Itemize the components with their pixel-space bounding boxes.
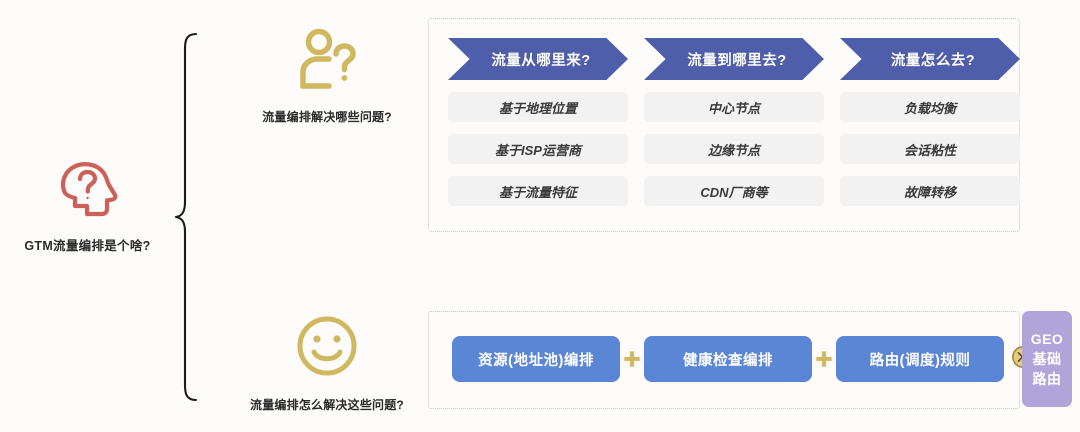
root-label: GTM流量编排是个啥? [0,235,175,254]
flow-box-resource[interactable]: 资源(地址池)编排 [452,336,620,382]
person-question-icon [289,24,365,100]
item-box[interactable]: 基于地理位置 [448,92,628,122]
branch-bottom: 流量编排怎么解决这些问题? [222,312,432,413]
brace [172,32,212,402]
root-node: GTM流量编排是个啥? [0,155,175,254]
item-box[interactable]: 故障转移 [840,176,1020,206]
solution-flow-row: 资源(地址池)编排 健康检查编排 路由(调度)规则 [452,336,1035,382]
branch-top: 流量编排解决哪些问题? [222,24,432,125]
diagram-canvas: GTM流量编排是个啥? 流量编排解决哪些问题? [0,0,1080,432]
geo-line-3: 路由 [1033,369,1062,389]
item-box[interactable]: 会话粘性 [840,134,1020,164]
smiley-face-icon [289,312,365,388]
chevron-header-3[interactable]: 流量怎么去? [840,38,1020,80]
question-column-2: 流量到哪里去? 中心节点 边缘节点 CDN厂商等 [644,38,824,206]
geo-base-routing-panel[interactable]: GEO 基础 路由 [1022,311,1072,407]
plus-icon [812,336,836,382]
branch-top-label: 流量编排解决哪些问题? [222,108,432,125]
item-box[interactable]: 基于ISP运营商 [448,134,628,164]
item-box[interactable]: CDN厂商等 [644,176,824,206]
flow-box-healthcheck[interactable]: 健康检查编排 [644,336,812,382]
item-box[interactable]: 负载均衡 [840,92,1020,122]
item-box[interactable]: 基于流量特征 [448,176,628,206]
geo-line-2: 基础 [1033,349,1062,369]
plus-icon [620,336,644,382]
question-column-3: 流量怎么去? 负载均衡 会话粘性 故障转移 [840,38,1020,206]
head-question-icon [53,155,123,225]
chevron-header-1[interactable]: 流量从哪里来? [448,38,628,80]
item-box[interactable]: 边缘节点 [644,134,824,164]
item-box[interactable]: 中心节点 [644,92,824,122]
branch-bottom-label: 流量编排怎么解决这些问题? [222,396,432,413]
chevron-header-2[interactable]: 流量到哪里去? [644,38,824,80]
geo-line-1: GEO [1031,329,1064,349]
question-column-1: 流量从哪里来? 基于地理位置 基于ISP运营商 基于流量特征 [448,38,628,206]
flow-box-routing[interactable]: 路由(调度)规则 [836,336,1004,382]
